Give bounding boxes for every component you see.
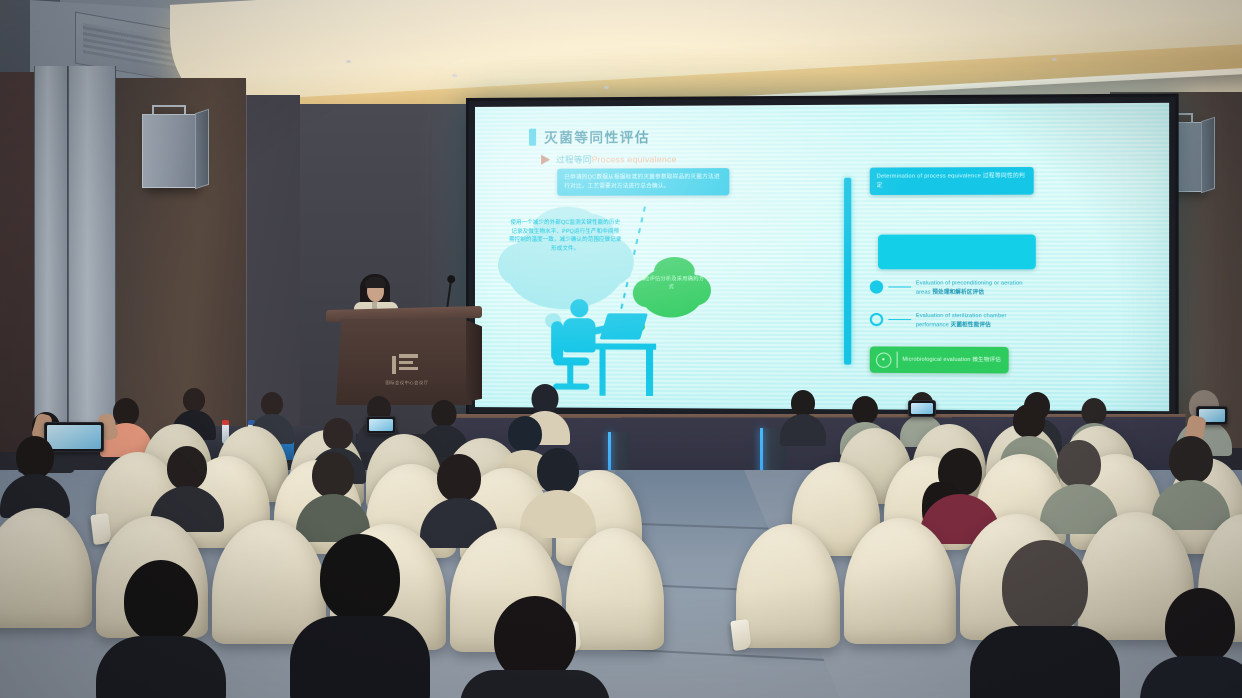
- person-head: [1013, 404, 1045, 438]
- person-head: [1165, 588, 1235, 664]
- hotel-logo-mark: [392, 354, 418, 374]
- presenter-fringe: [365, 277, 386, 288]
- audience-member: [1140, 588, 1242, 698]
- ceiling-spot-light: [346, 60, 351, 63]
- logo-stroke: [399, 354, 418, 358]
- audience-member: [96, 560, 226, 698]
- subtitle-en: Process equivalence: [592, 154, 677, 164]
- slide-right-column: Determination of process equivalence 过程等…: [865, 167, 1150, 401]
- projected-slide: 灭菌等同性评估 过程等同Process equivalence 已申请的QC数据…: [475, 103, 1169, 411]
- speaker-bracket: [152, 105, 187, 114]
- person-shoulders: [460, 670, 610, 698]
- right-heading-box: Determination of process equivalence 过程等…: [869, 167, 1033, 195]
- audience-member: [420, 454, 498, 540]
- title-accent-bar: [529, 128, 536, 145]
- logo-stroke: [392, 356, 396, 374]
- audience-member: [0, 436, 70, 512]
- wall-speaker-icon: [142, 114, 196, 188]
- slide-title: 灭菌等同性评估: [544, 126, 650, 147]
- slide-left-column: 已申请的QC数据从根据标准的灭菌参数取样品的灭菌方法进行对比，工艺需要对方法进行…: [493, 168, 844, 399]
- slide-subtitle-row: 过程等同Process equivalence: [541, 151, 1150, 166]
- person-head: [1169, 436, 1213, 484]
- desk-leg-shape: [600, 347, 606, 395]
- person-head: [437, 454, 481, 502]
- speaker-box: [142, 114, 196, 188]
- green-cloud-text: 风险评估分析及采用确的方式: [638, 275, 705, 291]
- person-shoulders: [290, 616, 430, 698]
- podium: 国际会议中心会议厅: [330, 308, 478, 406]
- chair-sash: [90, 513, 112, 545]
- logo-stroke: [399, 367, 418, 370]
- person-head: [183, 388, 205, 412]
- person-shoulders: [96, 636, 226, 698]
- audience-member: [1152, 436, 1230, 522]
- slide-subtitle: 过程等同Process equivalence: [556, 153, 677, 166]
- bullet-cn: 预处理和解析区评估: [932, 290, 984, 296]
- person-head: [167, 446, 207, 490]
- bullet-dot-icon: [869, 280, 882, 293]
- person-head: [261, 392, 283, 416]
- person-head: [124, 560, 198, 642]
- subtitle-cn: 过程等同: [556, 154, 591, 164]
- audience-member: [920, 448, 1000, 536]
- projection-screen: 灭菌等同性评估 过程等同Process equivalence 已申请的QC数据…: [466, 93, 1179, 420]
- person-head: [1082, 398, 1107, 425]
- audience-member: [460, 596, 610, 698]
- phone-recording[interactable]: [908, 400, 936, 417]
- speaker-side: [1201, 117, 1215, 194]
- ceiling-spot-light: [604, 86, 609, 89]
- audience-member: [290, 534, 430, 698]
- person-shoulders: [970, 626, 1120, 698]
- pill-cn: 微生物评估: [972, 357, 1001, 363]
- person-head: [508, 416, 542, 452]
- pill-divider: [896, 352, 897, 368]
- audience-member: [1040, 440, 1118, 526]
- audience-member: [520, 448, 596, 532]
- podium-nameplate: 国际会议中心会议厅: [368, 380, 446, 386]
- speaker-side: [195, 109, 209, 190]
- left-wall-mural-strip: [0, 72, 36, 452]
- bullet-text: Evaluation of preconditioning or aeratio…: [916, 279, 1028, 298]
- chair-back-shape: [551, 321, 563, 361]
- desk-leg-shape: [646, 348, 653, 396]
- audience-member: [970, 540, 1120, 698]
- wall-seam: [246, 84, 247, 444]
- ceiling-spot-light: [452, 74, 457, 77]
- triangle-bullet-icon: [541, 155, 550, 165]
- podium-side: [466, 320, 482, 402]
- chair-sash: [730, 619, 752, 651]
- phone-recording[interactable]: [366, 416, 396, 434]
- person-shoulders: [520, 490, 596, 538]
- right-bullet-item: Evaluation of preconditioning or aeratio…: [869, 279, 1028, 298]
- person-head: [323, 418, 353, 450]
- person-head: [1002, 540, 1088, 634]
- ceiling-spot-light: [1052, 58, 1057, 61]
- logo-stroke: [399, 361, 413, 364]
- phone-screen: [911, 403, 933, 414]
- person-head: [852, 396, 878, 424]
- chair-post-shape: [567, 363, 573, 385]
- person-shoulders: [1140, 656, 1242, 698]
- person-head: [113, 398, 139, 426]
- right-bullet-item: Evaluation of sterilization chamber perf…: [869, 312, 1028, 332]
- thought-cloud-text: 使用一个减少的外部QC监测关键性能的历史记录及微生物水平、PPQ运行生产和中间预…: [509, 219, 622, 254]
- figure-body: [563, 318, 595, 352]
- audience-member: [150, 446, 224, 526]
- conference-hall-photo: 灭菌等同性评估 过程等同Process equivalence 已申请的QC数据…: [0, 0, 1242, 698]
- person-shoulders: [780, 414, 826, 446]
- monitor-shape: [600, 313, 648, 339]
- person-head: [320, 534, 400, 622]
- slide-title-row: 灭菌等同性评估: [529, 123, 1150, 146]
- slide-content: 灭菌等同性评估 过程等同Process equivalence 已申请的QC数据…: [475, 103, 1169, 411]
- person-head: [791, 390, 815, 416]
- phone-screen: [369, 419, 393, 431]
- bullet-leader-line: [888, 286, 911, 287]
- circle-bacteria-icon: ●: [876, 352, 891, 367]
- right-blank-highlight-box: [878, 234, 1036, 269]
- person-head: [432, 400, 457, 427]
- person-head: [16, 436, 54, 478]
- person-head: [532, 384, 559, 413]
- microbiological-evaluation-pill: ● Microbiological evaluation 微生物评估: [869, 346, 1008, 373]
- audience-member: [780, 390, 826, 442]
- bullet-dot-outline-icon: [869, 313, 882, 326]
- left-caption-box: 已申请的QC数据从根据标准的灭菌参数取样品的灭菌方法进行对比，工艺需要对方法进行…: [557, 168, 729, 196]
- bullet-leader-line: [888, 319, 911, 320]
- person-head: [312, 452, 354, 498]
- slide-column-divider: [844, 178, 851, 365]
- audience-member: [296, 452, 370, 534]
- wall-panel-column: [34, 66, 68, 446]
- slide-body: 已申请的QC数据从根据标准的灭菌参数取样品的灭菌方法进行对比，工艺需要对方法进行…: [493, 167, 1150, 401]
- wall-panel-column: [68, 66, 116, 446]
- bullet-cn: 灭菌柜性能评估: [951, 323, 991, 329]
- figure-head: [570, 299, 588, 317]
- person-head: [537, 448, 579, 494]
- bottle-cap: [222, 420, 229, 425]
- bullet-text: Evaluation of sterilization chamber perf…: [916, 312, 1028, 332]
- pill-en: Microbiological evaluation: [902, 356, 970, 362]
- person-head: [1057, 440, 1101, 488]
- pill-text: Microbiological evaluation 微生物评估: [902, 355, 1001, 364]
